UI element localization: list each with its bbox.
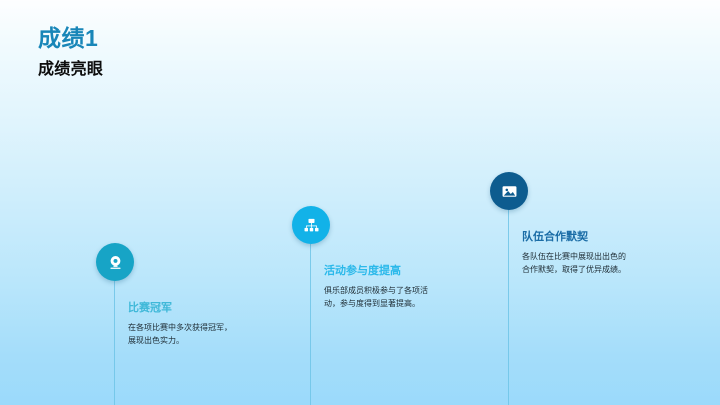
page-title: 成绩1 [38,26,103,51]
milestone-title: 队伍合作默契 [522,231,626,244]
slide-canvas: 成绩1 成绩亮眼 比赛冠军 在各项比赛中多次获得冠军，展现出色实力。 [0,0,720,405]
milestone-text-2: 活动参与度提高 俱乐部成员积极参与了各项活动，参与度得到显著提高。 [324,265,428,311]
webcam-icon [106,253,125,272]
milestone-text-1: 比赛冠军 在各项比赛中多次获得冠军，展现出色实力。 [128,302,232,348]
milestone-body: 俱乐部成员积极参与了各项活动，参与度得到显著提高。 [324,284,428,310]
page-subtitle: 成绩亮眼 [38,61,103,79]
connector-line [310,244,311,405]
milestone-title: 活动参与度提高 [324,265,428,278]
connector-line [114,281,115,405]
slide-header: 成绩1 成绩亮眼 [38,26,103,79]
milestone-marker-2[interactable] [292,206,330,244]
milestone-title: 比赛冠军 [128,302,232,315]
milestone-body: 各队伍在比赛中展现出出色的合作默契，取得了优异成绩。 [522,250,626,276]
milestone-marker-3[interactable] [490,172,528,210]
connector-line [508,210,509,405]
image-icon [500,182,519,201]
sitemap-icon [302,216,321,235]
milestone-body: 在各项比赛中多次获得冠军，展现出色实力。 [128,321,232,347]
milestone-text-3: 队伍合作默契 各队伍在比赛中展现出出色的合作默契，取得了优异成绩。 [522,231,626,277]
milestone-marker-1[interactable] [96,243,134,281]
